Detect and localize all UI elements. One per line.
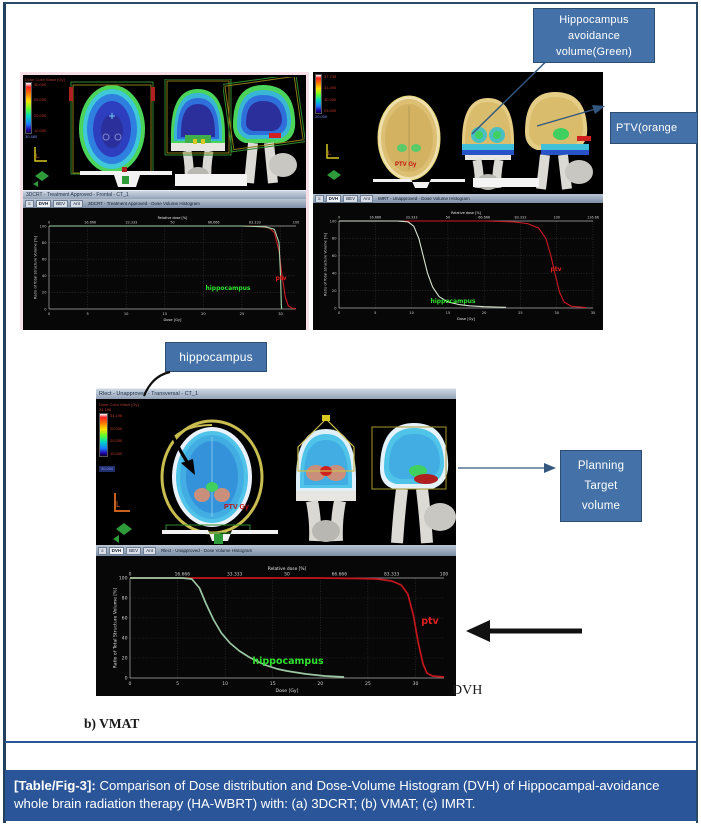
- dvh-chart-vmat: 051015202530Dose [Gy]016.66633.3335066.6…: [96, 556, 456, 696]
- figure-page: Dose Color Wash [Gy] 30.000 25.000 20.00…: [0, 0, 701, 825]
- tab-bev[interactable]: BEV: [53, 200, 68, 208]
- tab-dvh[interactable]: DVH: [36, 200, 52, 208]
- colorwash-value: 30.000: [324, 97, 336, 103]
- x2-tick-label: 100: [440, 572, 449, 578]
- y-axis-title: Ratio of Total Structure Volume [%]: [323, 232, 327, 296]
- x2-tick-label: 83.333: [249, 221, 261, 225]
- x2-axis-title: Relative dose [%]: [158, 216, 188, 220]
- panel-vmat: Rlect - Unapproved - Transversal - CT_1 …: [96, 388, 456, 696]
- x2-tick-label: 50: [284, 572, 290, 578]
- menu-icon[interactable]: ≡: [315, 195, 324, 203]
- callout-hippocampus[interactable]: hippocampus: [165, 342, 267, 372]
- caption-text: Comparison of Dose distribution and Dose…: [14, 778, 659, 811]
- couch-graphic-3dcrt: [78, 167, 174, 189]
- x-tick-label: 5: [374, 311, 376, 315]
- dvh-chart-3dcrt: 051015202530Dose [Gy]016.66633.3335066.6…: [23, 208, 306, 330]
- svg-text:L: L: [328, 151, 332, 157]
- x-tick-label: 15: [446, 311, 451, 315]
- x-tick-label: 20: [201, 312, 206, 316]
- curve-label-hippocampus: hippocampus: [205, 285, 250, 292]
- panel-3dcrt: Dose Color Wash [Gy] 30.000 25.000 20.00…: [20, 72, 309, 330]
- slice-sagittal-vmat: [368, 413, 456, 545]
- curve-label-hippocampus: hippocampus: [252, 656, 324, 667]
- x-axis-title: Dose [Gy]: [276, 688, 299, 694]
- colorwash-value: 30.000: [34, 82, 46, 88]
- y-tick-label: 40: [42, 274, 47, 278]
- x-tick-label: 10: [124, 312, 129, 316]
- callout-line: Hippocampus: [559, 12, 628, 28]
- x2-tick-label: 33.333: [125, 221, 137, 225]
- curve-label-hippocampus: hippocampus: [430, 298, 475, 305]
- colorwash-legend-3dcrt: Dose Color Wash [Gy] 30.000 25.000 20.00…: [25, 77, 71, 140]
- colorwash-value: 20.000: [110, 438, 122, 444]
- menu-icon[interactable]: ≡: [98, 547, 107, 555]
- panel-imrt-viewport[interactable]: 37.739 31.000 30.000 25.000 20.000 PTV G…: [313, 72, 603, 194]
- y-tick-label: 40: [332, 271, 337, 275]
- x2-tick-label: 66.666: [208, 221, 220, 225]
- x2-tick-label: 16.666: [369, 216, 381, 220]
- orientation-marker-3dcrt: L: [31, 145, 53, 187]
- x-tick-label: 20: [482, 311, 487, 315]
- tab-bev[interactable]: BEV: [126, 547, 141, 555]
- panel-imrt-dvh-toolbar[interactable]: ≡ DVH BEV Ant IMRT - Unapproved - Dose V…: [313, 194, 603, 203]
- colorwash-value: 25.000: [110, 426, 122, 432]
- x-tick-label: 20: [317, 681, 323, 687]
- x2-axis-title: Relative dose [%]: [268, 566, 307, 572]
- x-tick-label: 30: [278, 312, 283, 316]
- colorwash-legend-vmat: Dose Color Wash [Gy] 34.196 34.196 25.00…: [99, 402, 153, 475]
- x-tick-label: 35: [591, 311, 596, 315]
- orientation-marker-imrt: L: [323, 142, 345, 186]
- callout-ptv-orange[interactable]: PTV(orange: [610, 112, 698, 144]
- svg-text:PTV Gy: PTV Gy: [395, 162, 417, 168]
- x-tick-label: 5: [176, 681, 179, 687]
- colorwash-bar: [99, 413, 108, 457]
- scale-bar-imrt: [473, 178, 539, 187]
- y-tick-label: 40: [122, 636, 128, 642]
- x2-tick-label: 100: [553, 216, 559, 220]
- dvh-plot-svg: 051015202530Dose [Gy]016.66633.3335066.6…: [96, 556, 456, 696]
- slice-coronal-vmat: [278, 413, 374, 545]
- curve-label-ptv: ptv: [421, 616, 439, 627]
- x-tick-label: 30: [554, 311, 559, 315]
- y-tick-label: 20: [332, 289, 337, 293]
- curve-label-ptv: ptv: [275, 275, 286, 282]
- x-tick-label: 30: [413, 681, 419, 687]
- x2-tick-label: 50: [170, 221, 174, 225]
- x-tick-label: 25: [240, 312, 245, 316]
- callout-line: PTV(orange: [616, 122, 677, 134]
- x2-tick-label: 0: [338, 216, 340, 220]
- x2-tick-label: 0: [48, 221, 50, 225]
- scale-bar-3dcrt: [175, 174, 247, 186]
- panel-vmat-dvh-toolbar[interactable]: ≡ DVH BEV Ant Rlect - Unapproved - Dose …: [96, 545, 456, 556]
- tab-bev[interactable]: BEV: [343, 195, 358, 203]
- colorwash-value: 25.000: [34, 97, 46, 103]
- slice-transversal-3dcrt: [69, 79, 155, 175]
- dvh-chart-imrt: 05101520253035Dose [Gy]016.66633.3335066…: [313, 203, 603, 330]
- y-tick-label: 80: [42, 241, 47, 245]
- panel-vmat-window-title: Rlect - Unapproved - Transversal - CT_1: [96, 388, 456, 399]
- slice-transversal-imrt: PTV Gy: [371, 92, 447, 184]
- x2-tick-label: 100: [293, 221, 299, 225]
- y-tick-label: 100: [330, 219, 338, 223]
- callout-planning-target-volume[interactable]: Planning Target volume: [560, 450, 642, 522]
- x2-tick-label: 83.333: [515, 216, 527, 220]
- figure-caption: [Table/Fig-3]: Comparison of Dose distri…: [5, 770, 696, 821]
- panel-imrt-dvh-title: IMRT - Unapproved - Dose Volume Histogra…: [378, 194, 470, 203]
- svg-text:PTV Gy: PTV Gy: [224, 504, 249, 511]
- panel-imrt: 37.739 31.000 30.000 25.000 20.000 PTV G…: [313, 72, 603, 330]
- x-axis-title: Dose [Gy]: [164, 318, 183, 322]
- x2-tick-label: 16.666: [175, 572, 191, 578]
- y-tick-label: 60: [332, 254, 337, 258]
- colorwash-min: 30.000: [99, 466, 115, 472]
- callout-line: Planning: [578, 456, 624, 476]
- x-tick-label: 10: [222, 681, 228, 687]
- callout-line: hippocampus: [179, 350, 253, 364]
- x-tick-label: 25: [365, 681, 371, 687]
- dvh-plot-svg: 051015202530Dose [Gy]016.66633.3335066.6…: [23, 208, 306, 330]
- x2-tick-label: 116.66: [587, 216, 599, 220]
- caption-top-rule: [5, 741, 696, 743]
- x-axis-title: Dose [Gy]: [457, 317, 476, 321]
- colorwash-value: 20.000: [34, 113, 46, 119]
- callout-line: volume: [582, 496, 620, 516]
- colorwash-value: 10.000: [110, 451, 122, 457]
- panel-3dcrt-window-title: 3DCRT - Treatment Approved - Frontal - C…: [23, 190, 306, 199]
- tab-ant[interactable]: Ant: [70, 200, 83, 208]
- panel-3dcrt-dvh-toolbar[interactable]: ≡ DVH BEV Ant 3DCRT - Treatment Approved…: [23, 199, 306, 208]
- callout-line: Target: [584, 476, 617, 496]
- x2-tick-label: 33.333: [406, 216, 418, 220]
- y-axis-title: Ratio of Total Structure Volume [%]: [112, 587, 118, 668]
- x-tick-label: 10: [409, 311, 414, 315]
- dvh-plot-svg: 05101520253035Dose [Gy]016.66633.3335066…: [313, 203, 603, 330]
- x2-axis-title: Relative dose [%]: [451, 211, 481, 215]
- x-tick-label: 0: [129, 681, 132, 687]
- slice-transversal-vmat: PTV Gy: [154, 417, 270, 545]
- x2-tick-label: 66.666: [332, 572, 348, 578]
- menu-icon[interactable]: ≡: [25, 200, 34, 208]
- colorwash-bar: [25, 82, 32, 134]
- slice-coronal-imrt: [453, 86, 523, 190]
- y-axis-title: Ratio of Total Structure Volume [%]: [33, 235, 37, 299]
- callout-hippocampus-avoidance-volume[interactable]: Hippocampus avoidance volume(Green): [533, 8, 655, 63]
- y-tick-label: 60: [42, 257, 47, 261]
- tab-ant[interactable]: Ant: [360, 195, 373, 203]
- y-tick-label: 20: [122, 656, 128, 662]
- y-tick-label: 0: [125, 676, 128, 682]
- y-tick-label: 80: [332, 237, 337, 241]
- x-tick-label: 5: [86, 312, 88, 316]
- slice-sagittal-3dcrt: [223, 77, 305, 185]
- x-tick-label: 25: [518, 311, 523, 315]
- panel-vmat-viewport[interactable]: Dose Color Wash [Gy] 34.196 34.196 25.00…: [96, 399, 456, 545]
- couch-graphic-vmat: [160, 527, 280, 545]
- colorwash-max: 37.739: [324, 74, 336, 80]
- x2-tick-label: 16.666: [84, 221, 96, 225]
- y-tick-label: 80: [122, 596, 128, 602]
- colorwash-min: 20.000: [315, 114, 361, 120]
- y-tick-label: 60: [122, 616, 128, 622]
- orientation-marker-vmat: L: [110, 491, 138, 543]
- x2-tick-label: 50: [446, 216, 450, 220]
- colorwash-legend-imrt: 37.739 31.000 30.000 25.000 20.000: [315, 74, 361, 120]
- svg-text:L: L: [116, 500, 121, 509]
- colorwash-value: 34.196: [110, 413, 122, 419]
- panel-vmat-dvh-title: Rlect - Unapproved - Dose Volume Histogr…: [161, 545, 252, 556]
- panel-3dcrt-dvh-title: 3DCRT - Treatment Approved - Dose Volume…: [88, 199, 200, 208]
- tab-dvh[interactable]: DVH: [109, 547, 125, 555]
- panel-3dcrt-viewport[interactable]: Dose Color Wash [Gy] 30.000 25.000 20.00…: [23, 75, 306, 190]
- tab-ant[interactable]: Ant: [143, 547, 156, 555]
- x-tick-label: 15: [270, 681, 276, 687]
- curve-label-ptv: ptv: [550, 266, 561, 273]
- y-tick-label: 100: [40, 224, 48, 228]
- callout-line: avoidance: [568, 28, 620, 44]
- subfigure-label-vmat: b) VMAT: [84, 716, 139, 732]
- y-tick-label: 20: [42, 291, 47, 295]
- slice-sagittal-imrt: [515, 84, 601, 190]
- tab-dvh[interactable]: DVH: [326, 195, 342, 203]
- y-tick-label: 100: [119, 576, 128, 582]
- x2-tick-label: 83.333: [384, 572, 400, 578]
- callout-line: volume(Green): [556, 44, 632, 60]
- colorwash-bar: [315, 74, 322, 114]
- couch-graphic-imrt: [371, 176, 467, 192]
- x-tick-label: 15: [162, 312, 167, 316]
- caption-tag: [Table/Fig-3]:: [14, 778, 96, 793]
- x2-tick-label: 66.666: [478, 216, 490, 220]
- colorwash-max: 30.480: [25, 134, 71, 140]
- dvh-pointer-label: DVH: [452, 683, 482, 699]
- x2-tick-label: 33.333: [227, 572, 243, 578]
- svg-text:L: L: [36, 154, 40, 160]
- colorwash-value: 31.000: [324, 85, 336, 91]
- x2-tick-label: 0: [129, 572, 132, 578]
